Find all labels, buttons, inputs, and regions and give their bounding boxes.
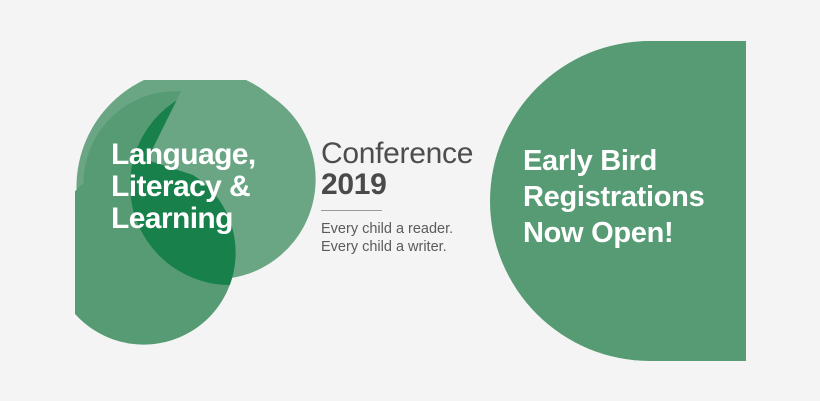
conference-tagline: Every child a reader. Every child a writ…	[321, 220, 496, 256]
promo-line-3: Now Open!	[523, 215, 753, 251]
promo-headline: Early Bird Registrations Now Open!	[523, 143, 753, 251]
banner: Language, Literacy & Learning Conference…	[0, 0, 820, 401]
tagline-line-1: Every child a reader.	[321, 220, 496, 238]
conference-label: Conference	[321, 138, 496, 170]
promo-panel[interactable]: Early Bird Registrations Now Open!	[490, 41, 746, 361]
divider-rule	[321, 210, 382, 211]
promo-line-2: Registrations	[523, 179, 753, 215]
tagline-line-2: Every child a writer.	[321, 238, 496, 256]
conference-block: Conference 2019 Every child a reader. Ev…	[321, 138, 496, 256]
conference-year: 2019	[321, 169, 496, 200]
promo-line-1: Early Bird	[523, 143, 753, 179]
